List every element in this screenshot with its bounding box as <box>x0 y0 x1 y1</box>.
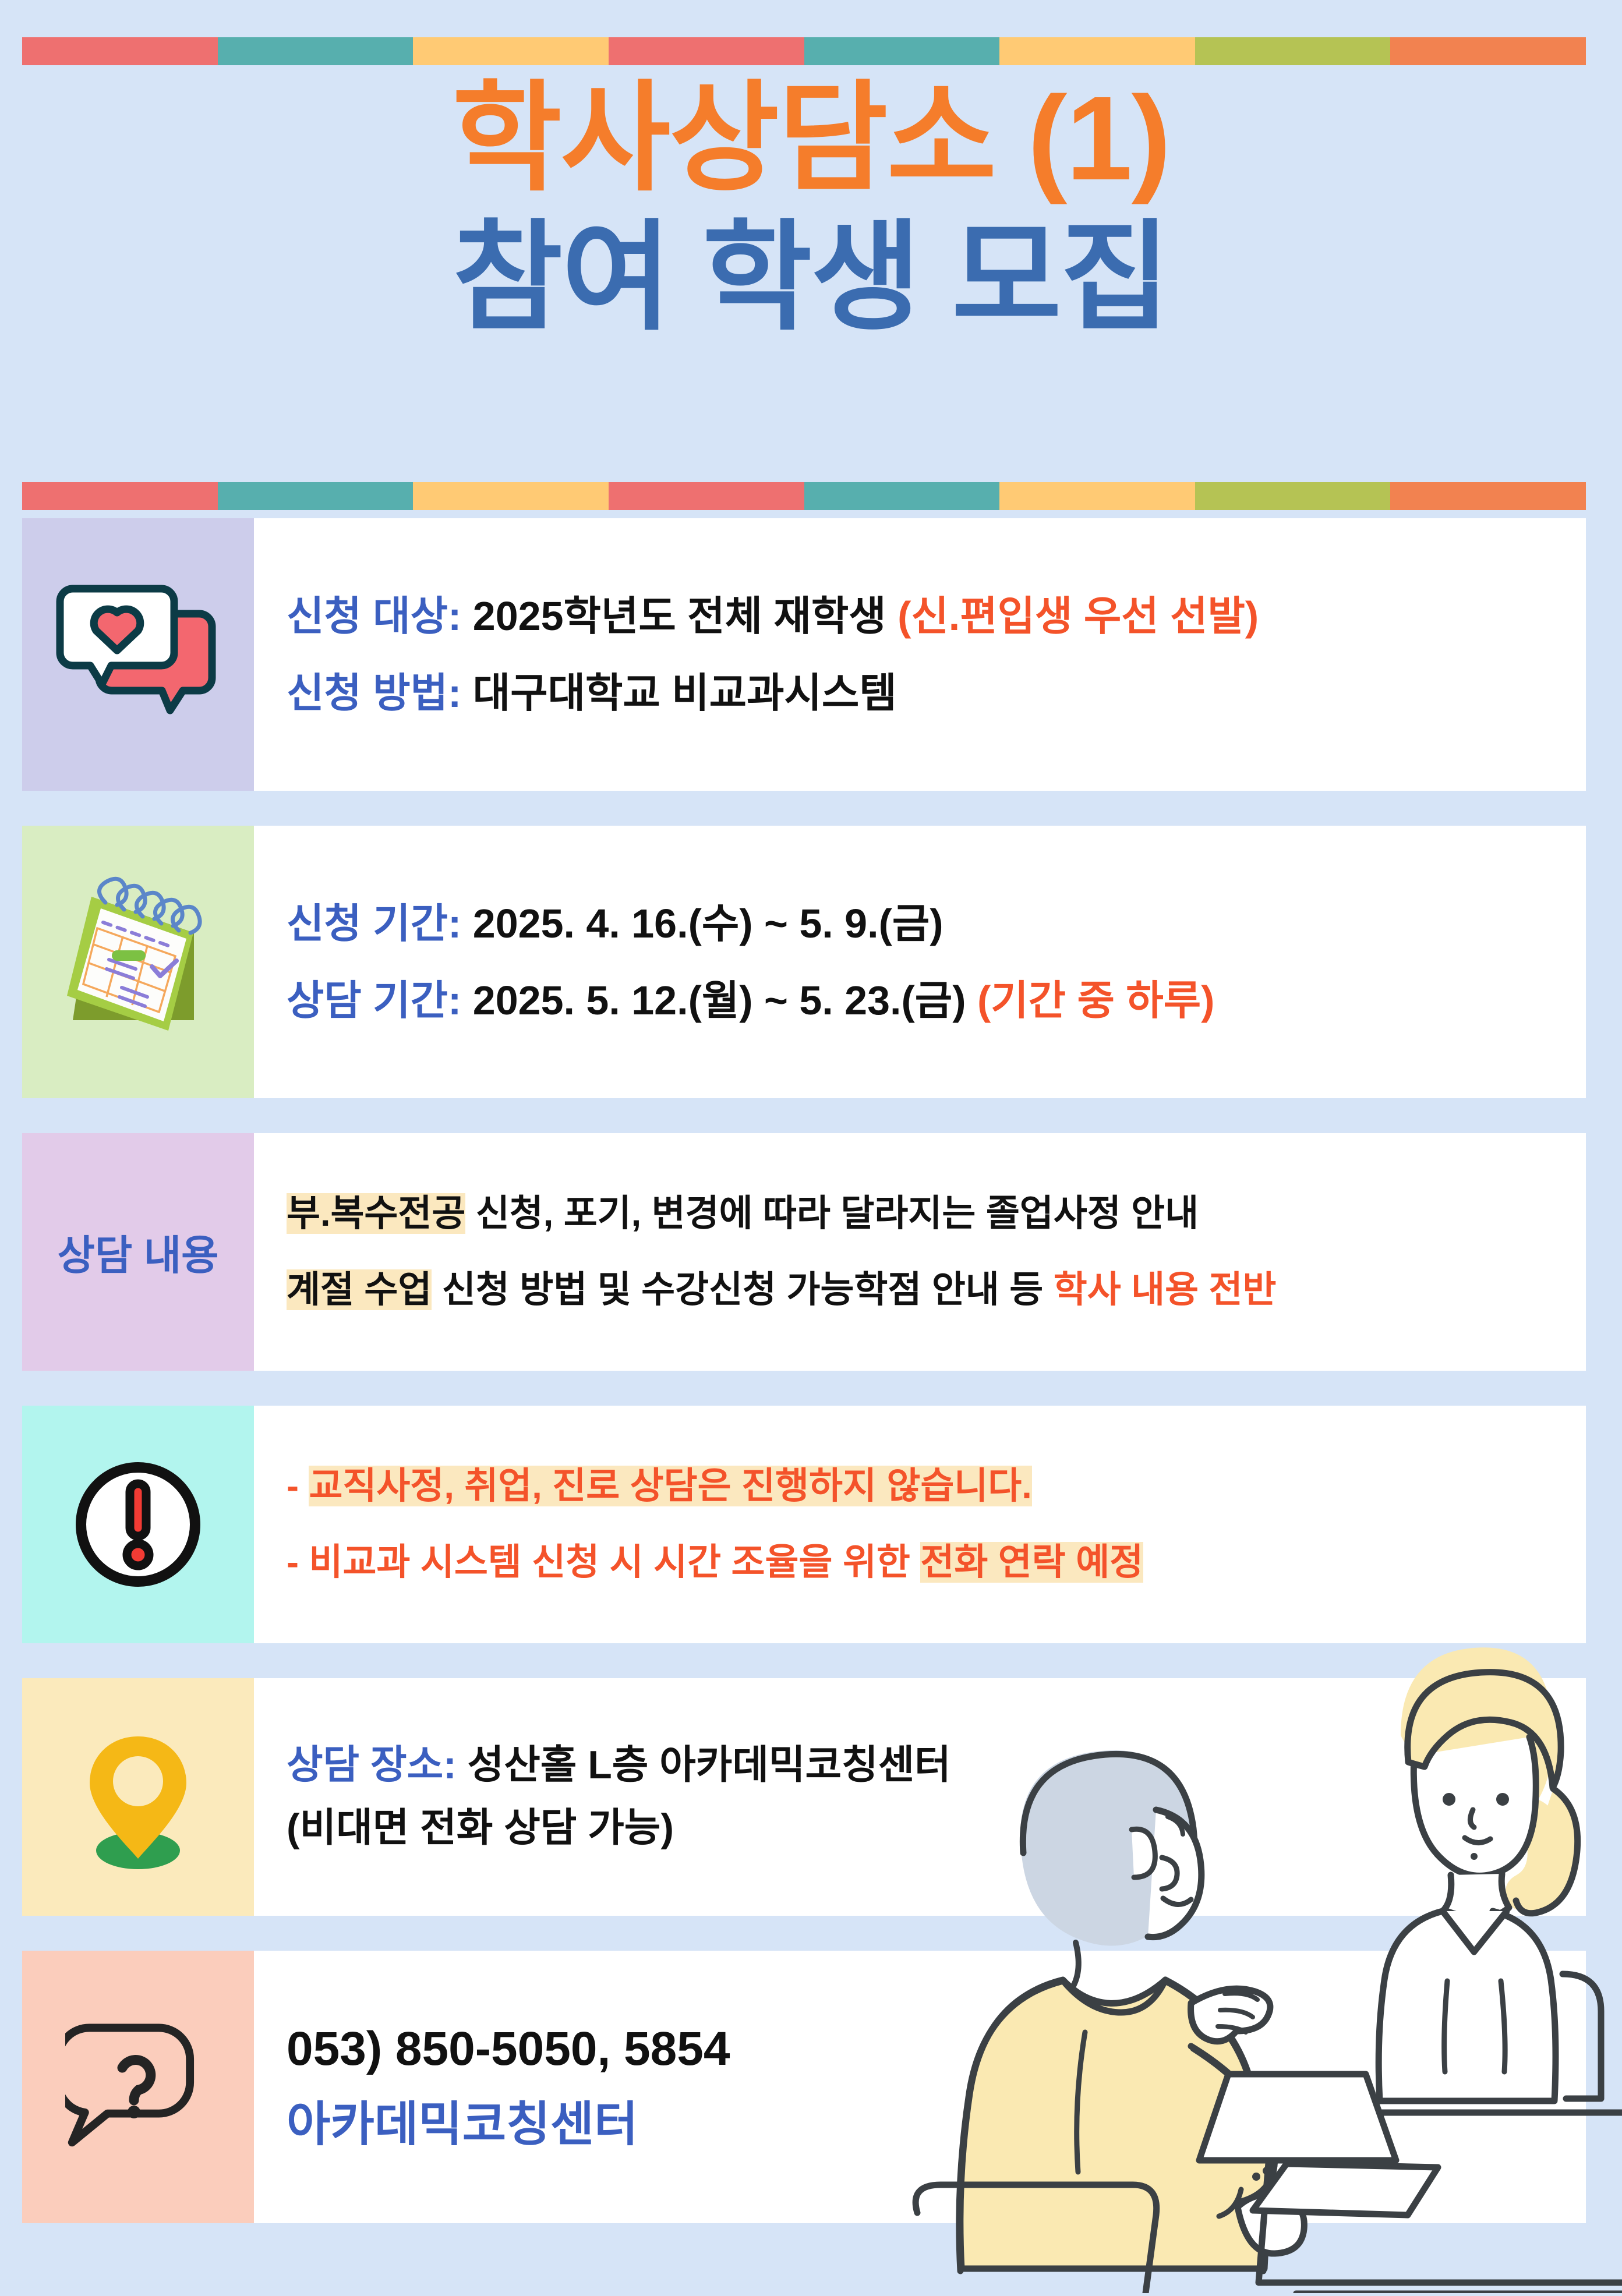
title-line-secondary: 참여 학생 모집 <box>0 215 1622 340</box>
color-bar-segment-6 <box>999 482 1195 510</box>
consultation-period-label: 상담 기간: <box>287 978 461 1023</box>
location-value: 성산홀 L층 아카데믹코칭센터 <box>457 1743 951 1787</box>
content-item-1-body: 신청, 포기, 변경에 따라 달라지는 졸업사정 안내 <box>465 1193 1199 1234</box>
content-item-1-highlight: 부.복수전공 <box>287 1193 465 1234</box>
question-bubble-icon <box>65 2014 211 2160</box>
text-cell-application: 신청 대상: 2025학년도 전체 재학생 (신.편입생 우선 선발) 신청 방… <box>254 518 1586 791</box>
color-bar-segment-1 <box>22 482 218 510</box>
chat-heart-icon <box>51 582 225 727</box>
content-item-2-highlight: 계절 수업 <box>287 1269 432 1310</box>
color-bar-segment-4 <box>609 37 804 65</box>
desk-calendar-icon <box>45 875 231 1049</box>
color-bar-segment-3 <box>413 37 609 65</box>
content-item-2-body: 신청 방법 및 수강신청 가능학점 안내 등 <box>432 1269 1053 1310</box>
notice-item-2-bullet: - <box>287 1542 309 1583</box>
consultation-period-note: (기간 중 하루) <box>977 978 1215 1023</box>
location-note-line: (비대면 전화 상담 가능) <box>287 1802 1568 1855</box>
color-bar-segment-4 <box>609 482 804 510</box>
exclamation-circle-icon <box>68 1455 208 1594</box>
application-method-line: 신청 방법: 대구대학교 비교과시스템 <box>287 666 1568 720</box>
info-row-content: 상담 내용 부.복수전공 신청, 포기, 변경에 따라 달라지는 졸업사정 안내… <box>22 1133 1586 1371</box>
icon-cell-period <box>22 826 254 1098</box>
text-cell-notice: - 교직사정, 취업, 진로 상담은 진행하지 않습니다. - 비교과 시스템 … <box>254 1406 1586 1643</box>
color-bar-segment-7 <box>1195 37 1391 65</box>
color-bar-segment-2 <box>218 482 414 510</box>
info-row-location: 상담 장소: 성산홀 L층 아카데믹코칭센터 (비대면 전화 상담 가능) <box>22 1678 1586 1916</box>
application-period-label: 신청 기간: <box>287 901 461 946</box>
color-bar-bottom <box>22 482 1586 510</box>
content-section-label: 상담 내용 <box>57 1223 218 1282</box>
poster-title: 학사상담소 (1) 참여 학생 모집 <box>0 76 1622 341</box>
info-row-contact: 053) 850-5050, 5854 아카데믹코칭센터 <box>22 1951 1586 2223</box>
content-item-2: 계절 수업 신청 방법 및 수강신청 가능학점 안내 등 학사 내용 전반 <box>287 1266 1568 1314</box>
color-bar-segment-1 <box>22 37 218 65</box>
notice-item-1-bullet: - <box>287 1466 309 1506</box>
consultation-period-line: 상담 기간: 2025. 5. 12.(월) ~ 5. 23.(금) (기간 중… <box>287 974 1568 1027</box>
icon-cell-location <box>22 1678 254 1916</box>
info-row-notice: - 교직사정, 취업, 진로 상담은 진행하지 않습니다. - 비교과 시스템 … <box>22 1406 1586 1643</box>
notice-item-2-highlight: 전화 연락 예정 <box>920 1542 1143 1583</box>
info-row-period: 신청 기간: 2025. 4. 16.(수) ~ 5. 9.(금) 상담 기간:… <box>22 826 1586 1098</box>
application-target-note: (신.편입생 우선 선발) <box>897 593 1259 639</box>
title-line-primary: 학사상담소 (1) <box>0 76 1622 201</box>
color-bar-segment-6 <box>999 37 1195 65</box>
notice-item-2-pre: 비교과 시스템 신청 시 시간 조율을 위한 <box>309 1542 920 1583</box>
application-target-value: 2025학년도 전체 재학생 <box>461 593 897 639</box>
contact-phone: 053) 850-5050, 5854 <box>287 2018 1568 2081</box>
color-bar-segment-5 <box>804 482 1000 510</box>
color-bar-segment-5 <box>804 37 1000 65</box>
text-cell-content: 부.복수전공 신청, 포기, 변경에 따라 달라지는 졸업사정 안내 계절 수업… <box>254 1133 1586 1371</box>
color-bar-segment-2 <box>218 37 414 65</box>
color-bar-segment-3 <box>413 482 609 510</box>
application-period-value: 2025. 4. 16.(수) ~ 5. 9.(금) <box>461 901 943 946</box>
icon-cell-contact <box>22 1951 254 2223</box>
icon-cell-notice <box>22 1406 254 1643</box>
application-method-label: 신청 방법: <box>287 670 461 716</box>
application-method-value: 대구대학교 비교과시스템 <box>461 670 896 716</box>
location-line: 상담 장소: 성산홀 L층 아카데믹코칭센터 <box>287 1739 1568 1792</box>
color-bar-segment-7 <box>1195 482 1391 510</box>
application-period-line: 신청 기간: 2025. 4. 16.(수) ~ 5. 9.(금) <box>287 897 1568 950</box>
contact-center-name: 아카데믹코칭센터 <box>287 2093 1568 2156</box>
info-row-application: 신청 대상: 2025학년도 전체 재학생 (신.편입생 우선 선발) 신청 방… <box>22 518 1586 791</box>
icon-cell-application <box>22 518 254 791</box>
map-pin-icon <box>71 1721 205 1873</box>
location-label: 상담 장소: <box>287 1743 457 1787</box>
color-bar-segment-8 <box>1390 37 1586 65</box>
notice-item-2: - 비교과 시스템 신청 시 시간 조율을 위한 전화 연락 예정 <box>287 1538 1568 1587</box>
text-cell-period: 신청 기간: 2025. 4. 16.(수) ~ 5. 9.(금) 상담 기간:… <box>254 826 1586 1098</box>
notice-item-1: - 교직사정, 취업, 진로 상담은 진행하지 않습니다. <box>287 1462 1568 1510</box>
consultation-period-value: 2025. 5. 12.(월) ~ 5. 23.(금) <box>461 978 977 1023</box>
location-note: (비대면 전화 상담 가능) <box>287 1806 674 1850</box>
notice-item-1-highlight: 교직사정, 취업, 진로 상담은 진행하지 않습니다. <box>309 1466 1031 1506</box>
application-target-label: 신청 대상: <box>287 593 461 639</box>
application-target-line: 신청 대상: 2025학년도 전체 재학생 (신.편입생 우선 선발) <box>287 589 1568 643</box>
icon-cell-content: 상담 내용 <box>22 1133 254 1371</box>
content-item-1: 부.복수전공 신청, 포기, 변경에 따라 달라지는 졸업사정 안내 <box>287 1190 1568 1238</box>
color-bar-top <box>22 37 1586 65</box>
color-bar-segment-8 <box>1390 482 1586 510</box>
content-item-2-accent: 학사 내용 전반 <box>1054 1269 1277 1310</box>
